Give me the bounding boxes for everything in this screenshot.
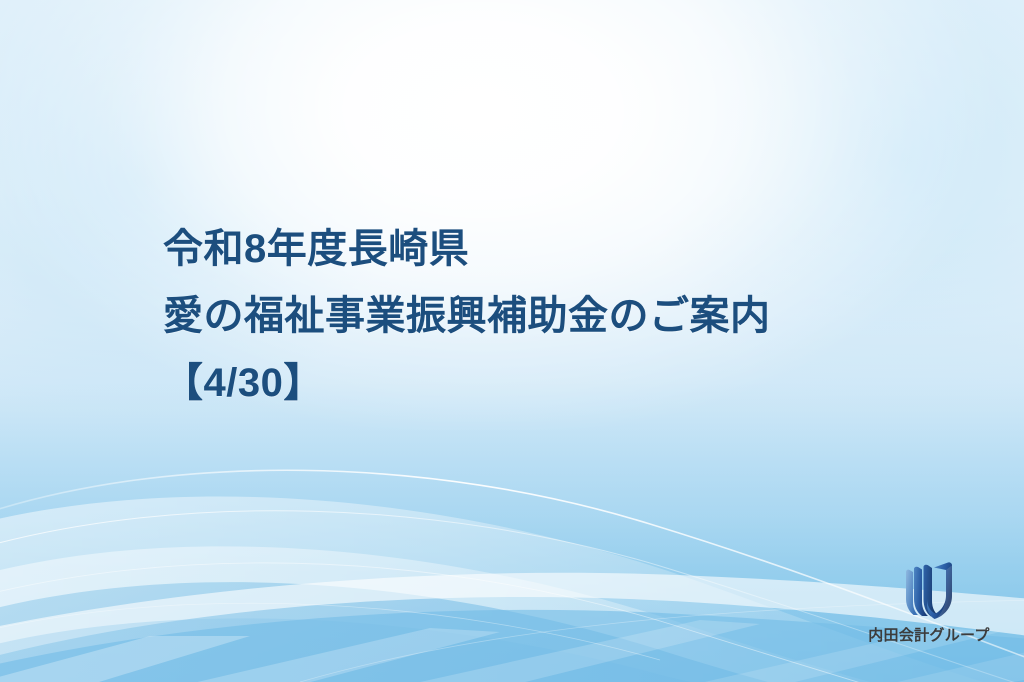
title-line-2: 愛の福祉事業振興補助金のご案内 (163, 283, 953, 350)
slide-title: 令和8年度長崎県 愛の福祉事業振興補助金のご案内 【4/30】 (163, 216, 953, 417)
company-logo: 内田会計グループ (858, 558, 1000, 654)
slide-canvas: 令和8年度長崎県 愛の福祉事業振興補助金のご案内 【4/30】 (0, 0, 1024, 682)
uchida-group-mark-icon (896, 558, 962, 624)
company-logo-text: 内田会計グループ (858, 624, 1000, 645)
title-line-3: 【4/30】 (163, 350, 953, 417)
title-line-1: 令和8年度長崎県 (163, 216, 953, 283)
